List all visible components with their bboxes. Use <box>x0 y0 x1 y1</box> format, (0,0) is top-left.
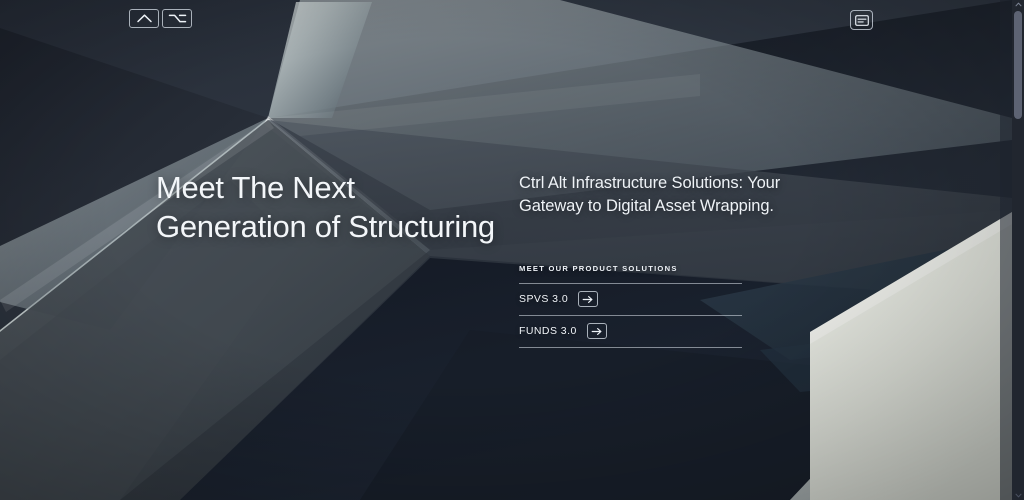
hero-content: Meet The Next Generation of Structuring … <box>0 0 1012 500</box>
page-viewport: Meet The Next Generation of Structuring … <box>0 0 1024 500</box>
scroll-up-arrow-icon[interactable] <box>1012 0 1024 9</box>
site-header <box>0 0 1012 42</box>
product-link-spvs[interactable]: SPVS 3.0 <box>519 284 742 315</box>
products-eyebrow-label: MEET OUR PRODUCT SOLUTIONS <box>519 264 815 273</box>
scrollbar-thumb[interactable] <box>1014 11 1022 119</box>
page-scrollbar[interactable] <box>1012 0 1024 500</box>
option-alt-icon <box>162 9 192 28</box>
menu-button[interactable] <box>850 10 873 30</box>
product-solutions-list: SPVS 3.0 FUNDS 3.0 <box>519 283 742 348</box>
product-link-funds[interactable]: FUNDS 3.0 <box>519 316 742 347</box>
menu-panel-icon <box>855 15 869 26</box>
arrow-right-icon[interactable] <box>578 291 598 307</box>
divider <box>519 347 742 348</box>
control-caret-icon <box>129 9 159 28</box>
scroll-down-arrow-icon[interactable] <box>1012 491 1024 500</box>
product-label: SPVS 3.0 <box>519 293 568 305</box>
hero-right-column: Ctrl Alt Infrastructure Solutions: Your … <box>519 172 815 348</box>
arrow-right-icon[interactable] <box>587 323 607 339</box>
hero-subheading: Ctrl Alt Infrastructure Solutions: Your … <box>519 172 815 219</box>
page-title: Meet The Next Generation of Structuring <box>156 168 496 247</box>
brand-logo-ctrl-alt[interactable] <box>129 9 192 28</box>
product-label: FUNDS 3.0 <box>519 325 577 337</box>
